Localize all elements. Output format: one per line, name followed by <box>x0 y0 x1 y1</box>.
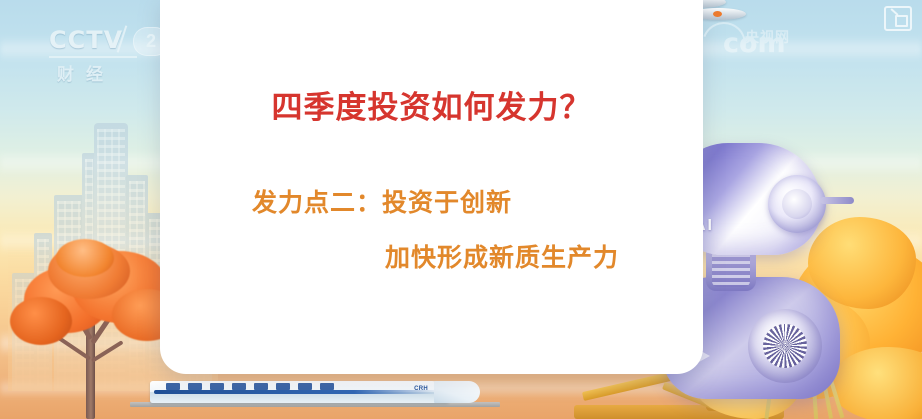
train-label: CRH <box>414 386 428 392</box>
watermark-cn: 央视网 <box>745 27 790 47</box>
robot-ear-dial <box>768 175 826 233</box>
page-title: 四季度投资如何发力？ <box>160 82 703 127</box>
bullet-line-1: 发力点二：投资于创新 <box>252 183 512 219</box>
channel-logo-name: CCTV <box>49 26 123 54</box>
channel-logo: CCTV 2 财经 <box>49 26 175 84</box>
high-speed-train: CRH <box>150 373 480 407</box>
bullet-line-2: 加快形成新质生产力 <box>385 238 619 274</box>
channel-logo-subtitle: 财经 <box>57 60 167 85</box>
robot-antenna <box>820 197 854 204</box>
robot-chest-turbine <box>748 309 822 383</box>
cctv-com-watermark: CCTVcom 央视网 <box>610 28 790 76</box>
picture-in-picture-icon[interactable] <box>884 6 912 31</box>
broadcast-frame: CRH AI <box>0 0 922 419</box>
watermark-main: CCTV <box>610 28 689 59</box>
channel-number: 2 <box>133 27 169 56</box>
channel-logo-underline <box>49 56 137 58</box>
